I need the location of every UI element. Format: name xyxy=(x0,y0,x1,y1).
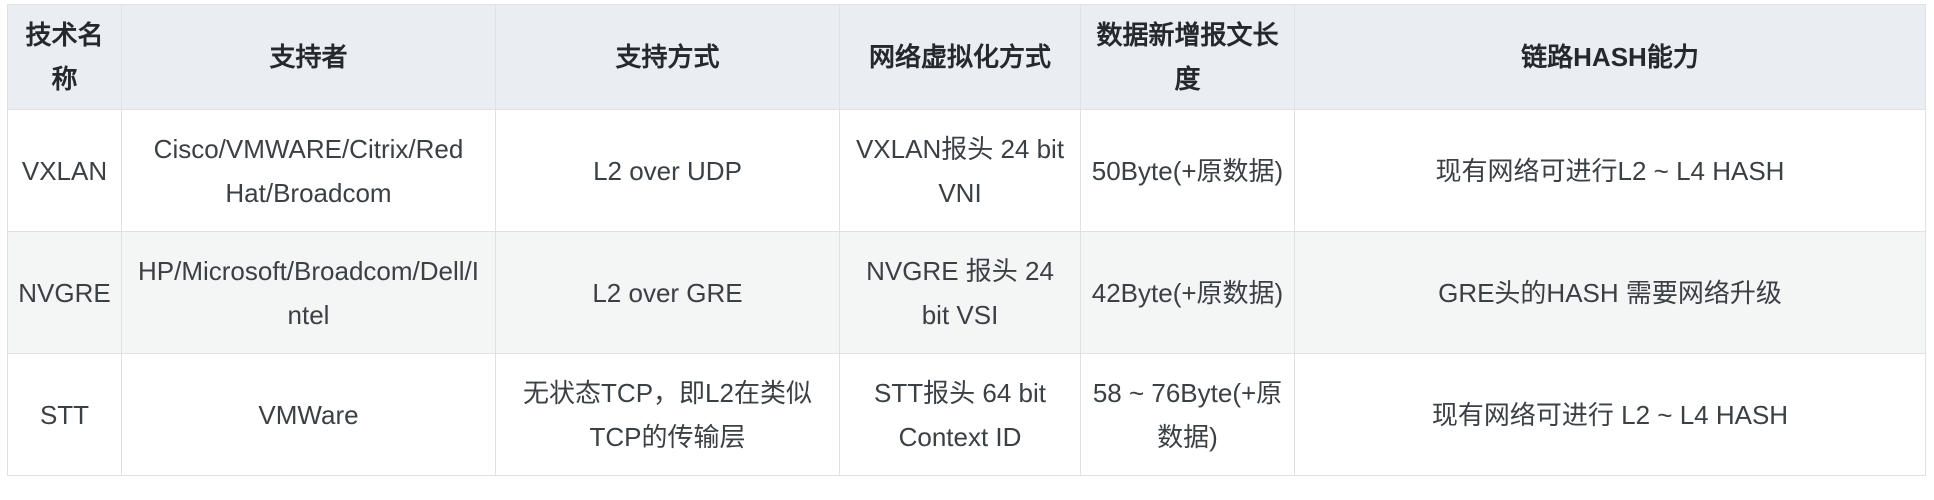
cell-support-mode: L2 over UDP xyxy=(496,110,840,232)
table-row: STT VMWare 无状态TCP，即L2在类似TCP的传输层 STT报头 64… xyxy=(8,354,1926,476)
cell-supporters: HP/Microsoft/Broadcom/Dell/Intel xyxy=(122,232,496,354)
column-header-network-virtualization: 网络虚拟化方式 xyxy=(840,5,1081,110)
cell-tech-name: STT xyxy=(8,354,122,476)
cell-link-hash-capability: 现有网络可进行L2 ~ L4 HASH xyxy=(1295,110,1926,232)
cell-added-packet-length: 50Byte(+原数据) xyxy=(1081,110,1295,232)
column-header-tech-name: 技术名 称 xyxy=(8,5,122,110)
cell-network-virtualization: VXLAN报头 24 bit VNI xyxy=(840,110,1081,232)
column-header-support-mode: 支持方式 xyxy=(496,5,840,110)
table-header-row: 技术名 称 支持者 支持方式 网络虚拟化方式 数据新增报文长 度 链路HASH能… xyxy=(8,5,1926,110)
column-header-added-packet-length: 数据新增报文长 度 xyxy=(1081,5,1295,110)
network-virtualization-comparison-table: 技术名 称 支持者 支持方式 网络虚拟化方式 数据新增报文长 度 链路HASH能… xyxy=(7,4,1926,476)
cell-supporters: Cisco/VMWARE/Citrix/Red Hat/Broadcom xyxy=(122,110,496,232)
table-body: VXLAN Cisco/VMWARE/Citrix/Red Hat/Broadc… xyxy=(8,110,1926,476)
cell-network-virtualization: NVGRE 报头 24 bit VSI xyxy=(840,232,1081,354)
table-row: NVGRE HP/Microsoft/Broadcom/Dell/Intel L… xyxy=(8,232,1926,354)
cell-network-virtualization: STT报头 64 bit Context ID xyxy=(840,354,1081,476)
cell-link-hash-capability: 现有网络可进行 L2 ~ L4 HASH xyxy=(1295,354,1926,476)
table-header: 技术名 称 支持者 支持方式 网络虚拟化方式 数据新增报文长 度 链路HASH能… xyxy=(8,5,1926,110)
cell-tech-name: VXLAN xyxy=(8,110,122,232)
table-container: 技术名 称 支持者 支持方式 网络虚拟化方式 数据新增报文长 度 链路HASH能… xyxy=(0,0,1934,476)
table-row: VXLAN Cisco/VMWARE/Citrix/Red Hat/Broadc… xyxy=(8,110,1926,232)
cell-support-mode: L2 over GRE xyxy=(496,232,840,354)
cell-link-hash-capability: GRE头的HASH 需要网络升级 xyxy=(1295,232,1926,354)
cell-tech-name: NVGRE xyxy=(8,232,122,354)
cell-supporters: VMWare xyxy=(122,354,496,476)
column-header-supporters: 支持者 xyxy=(122,5,496,110)
column-header-link-hash-capability: 链路HASH能力 xyxy=(1295,5,1926,110)
cell-added-packet-length: 58 ~ 76Byte(+原数据) xyxy=(1081,354,1295,476)
cell-added-packet-length: 42Byte(+原数据) xyxy=(1081,232,1295,354)
cell-support-mode: 无状态TCP，即L2在类似TCP的传输层 xyxy=(496,354,840,476)
